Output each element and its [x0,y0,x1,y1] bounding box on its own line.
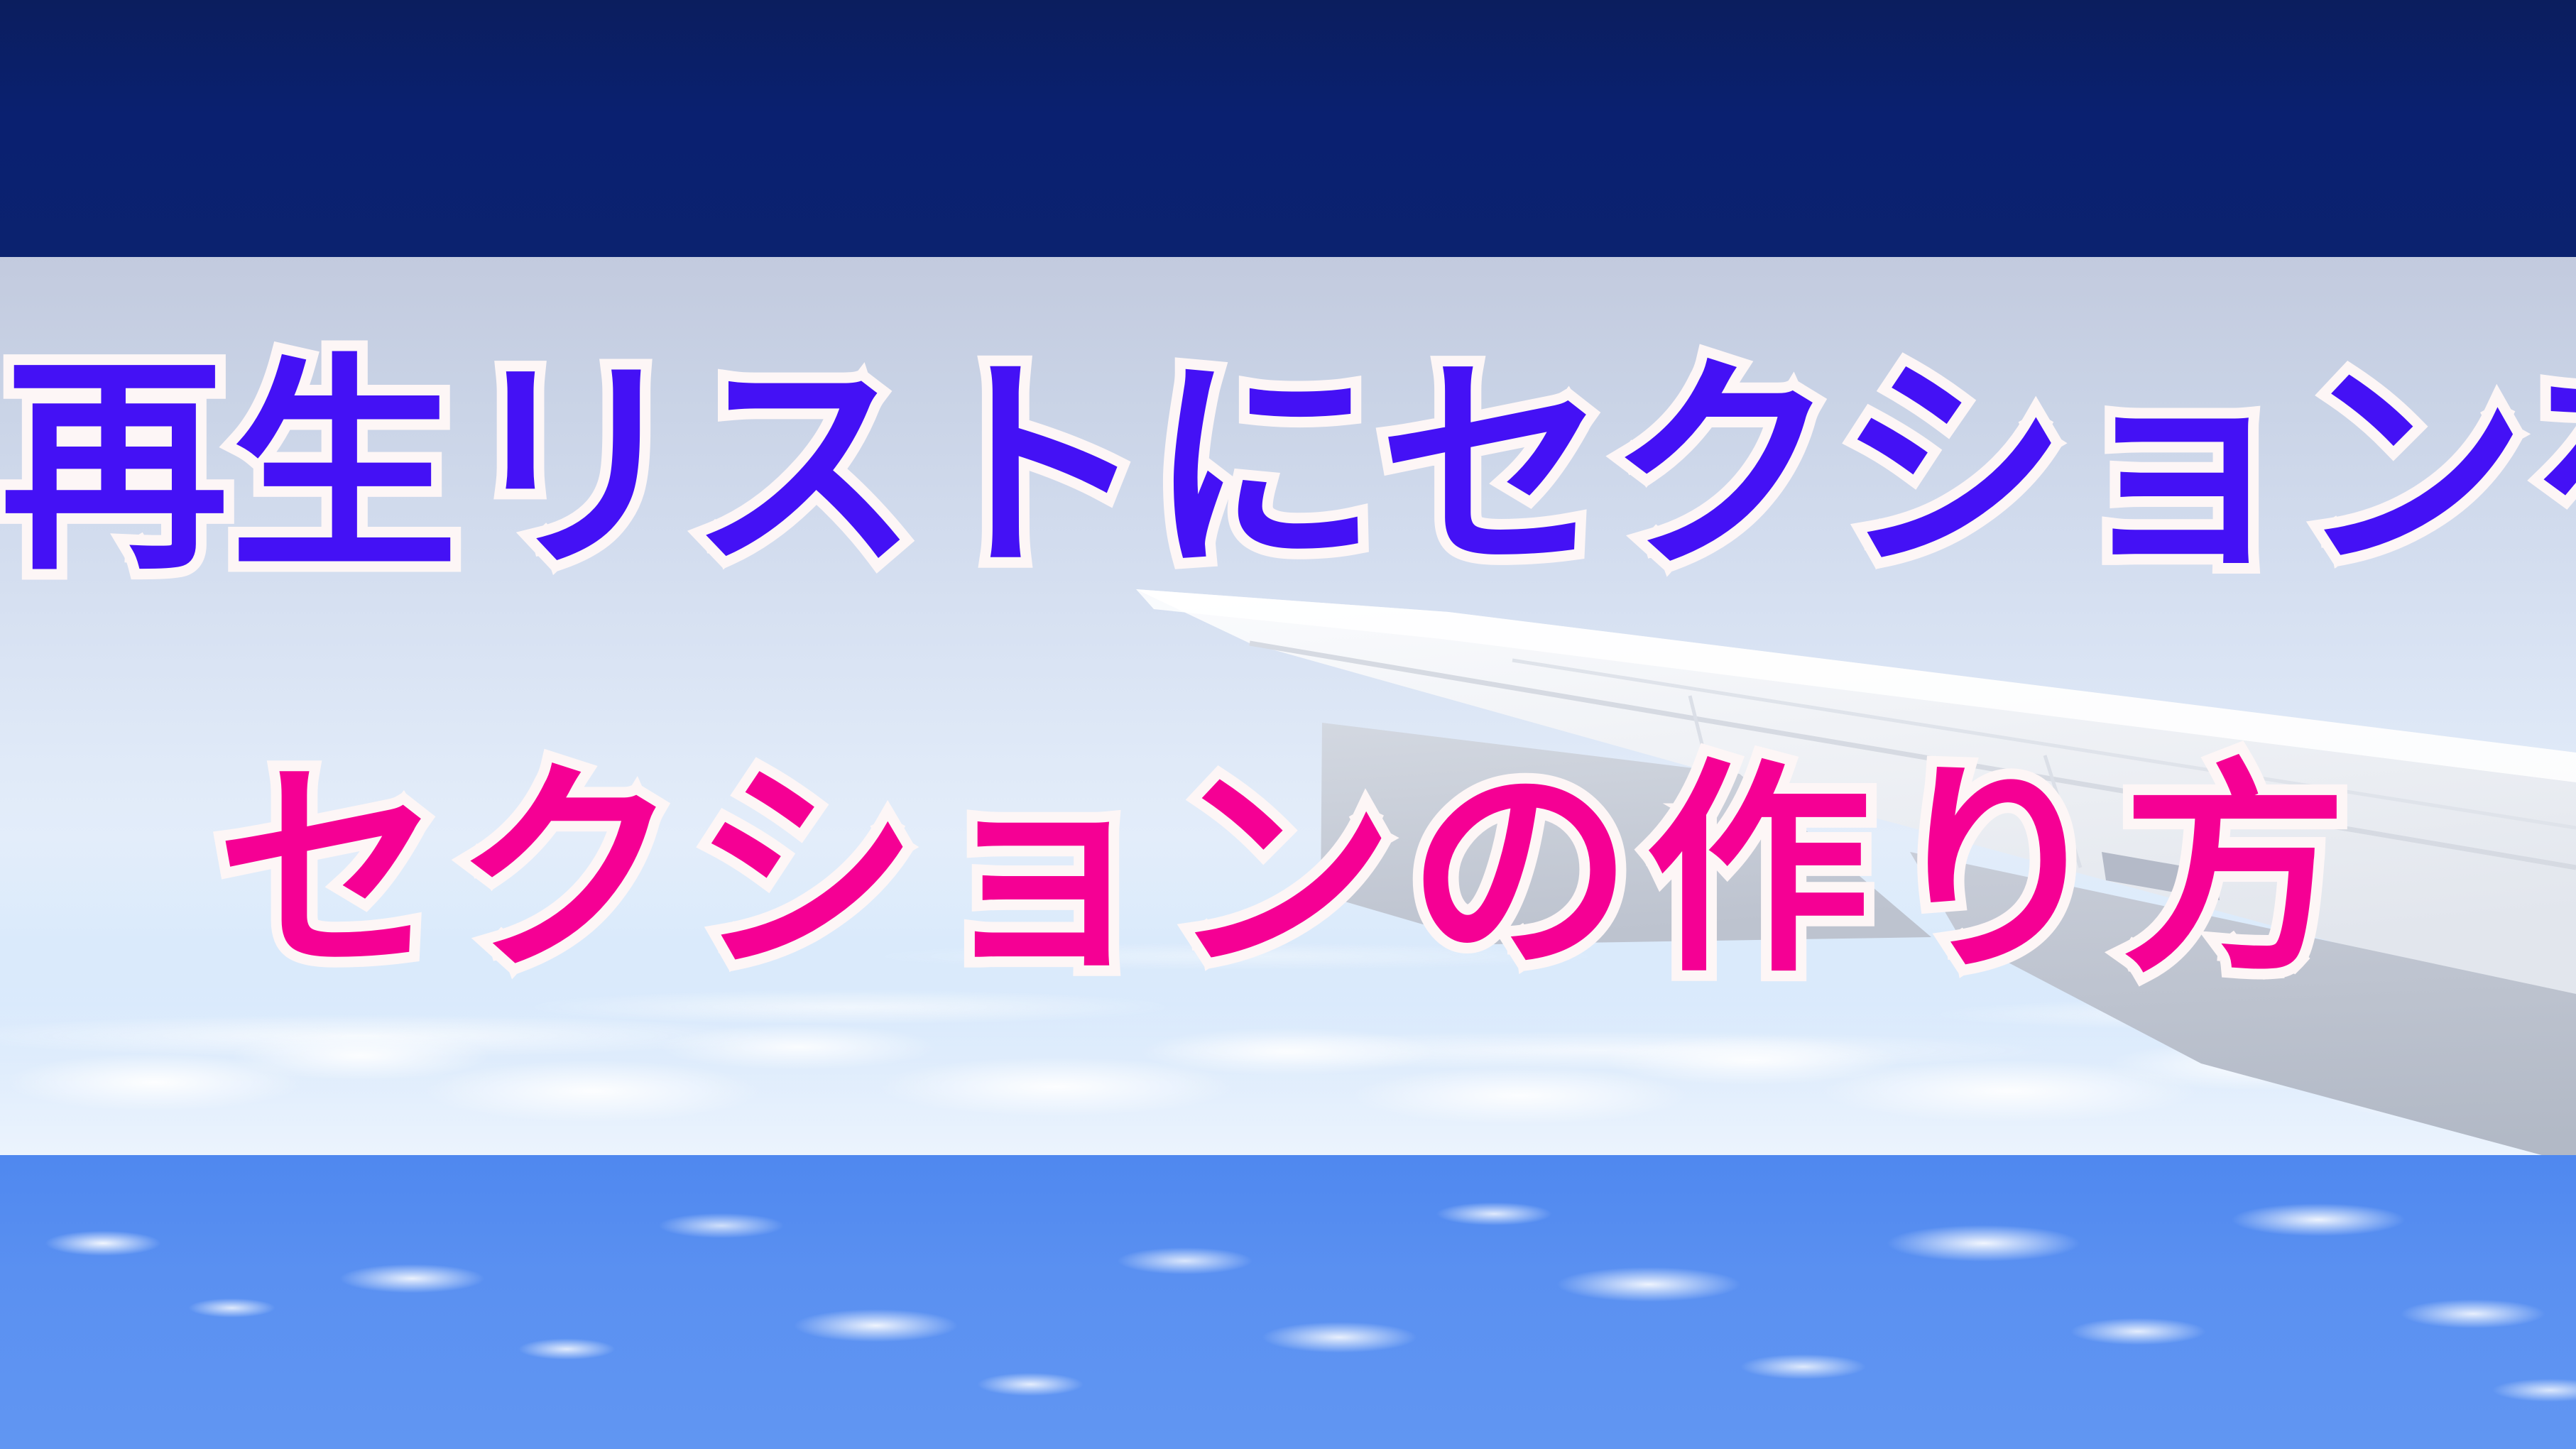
headline-secondary: セクションの作り方 [0,758,2576,984]
headline-stack: 再生リストにセクションを追加する方法 セクションの作り方 [0,0,2576,1449]
thumbnail-canvas: 再生リストにセクションを追加する方法 セクションの作り方 [0,0,2576,1449]
headline-primary: 再生リストにセクションを追加する方法 [0,354,2576,582]
